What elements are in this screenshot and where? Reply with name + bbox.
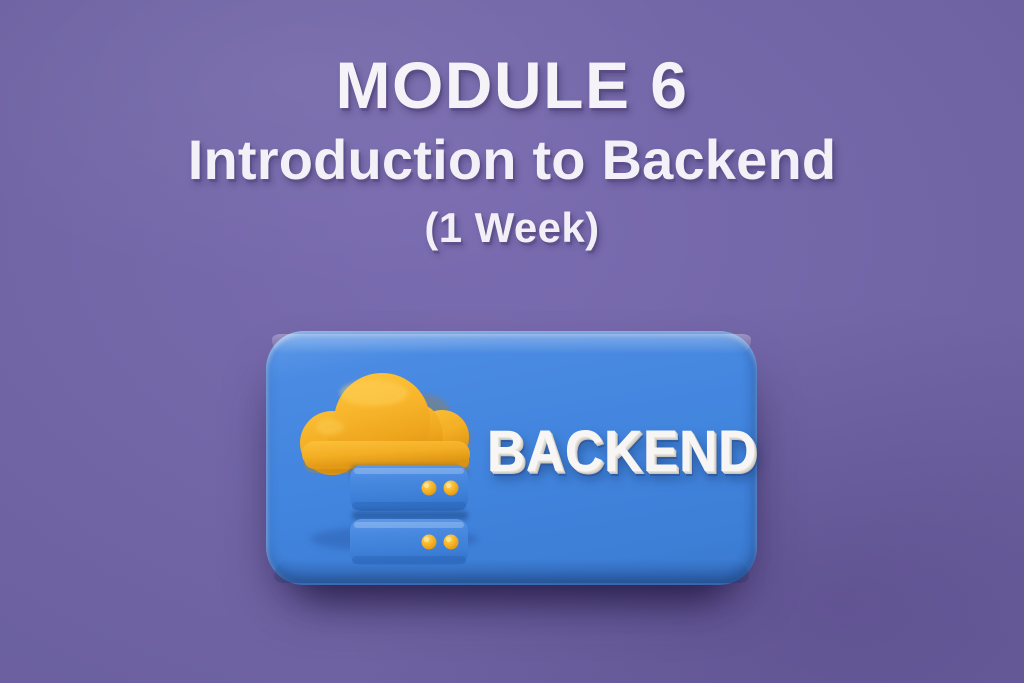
badge-card: BACKEND — [266, 331, 757, 585]
card-bottom-shade — [274, 559, 749, 583]
server-rack-bottom — [350, 519, 468, 565]
page-subtitle: Introduction to Backend — [0, 131, 1024, 189]
backend-badge: BACKEND — [266, 331, 757, 585]
cloud-shape — [300, 373, 470, 475]
slide-canvas: MODULE 6 Introduction to Backend (1 Week… — [0, 0, 1024, 683]
duration-label: (1 Week) — [0, 204, 1024, 252]
badge-wordmark: BACKEND — [487, 423, 735, 481]
server-rack-top — [350, 465, 468, 511]
card-top-highlight — [272, 334, 751, 354]
cloud-server-icon — [290, 357, 495, 562]
heading-block: MODULE 6 Introduction to Backend (1 Week… — [0, 52, 1024, 252]
page-title: MODULE 6 — [0, 52, 1024, 119]
